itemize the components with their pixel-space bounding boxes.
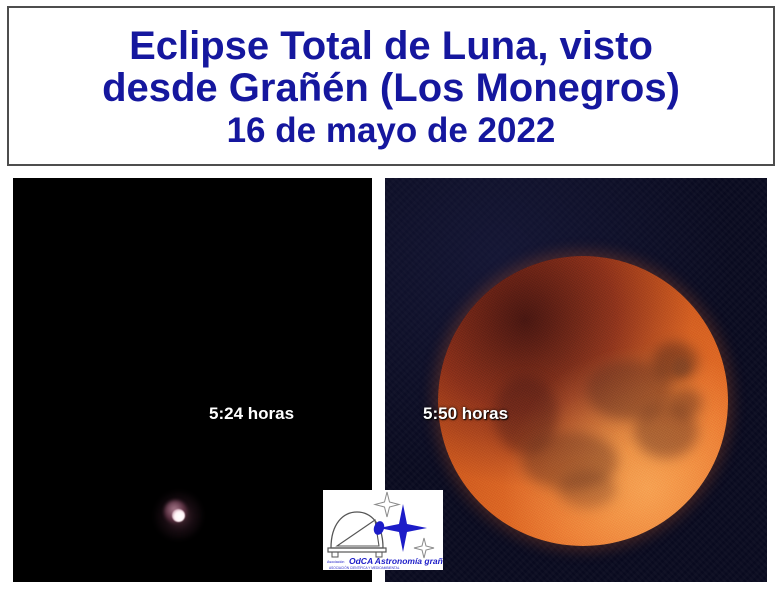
odca-observatory-logo: Asociación OdCA Astronomía grañén ASOCIA…: [323, 490, 443, 570]
page-title-line-1: Eclipse Total de Luna, visto: [129, 25, 653, 67]
page-title-line-2: desde Grañén (Los Monegros): [102, 67, 680, 109]
photo-partial-eclipse: 5:24 horas: [13, 178, 372, 582]
moon-bright-crescent: [172, 509, 185, 522]
odca-sub-text: ASOCIACIÓN CIENTÍFICA Y MEDIOAMBIENTAL: [329, 565, 400, 570]
page-title-line-3: 16 de mayo de 2022: [227, 112, 556, 149]
title-box: Eclipse Total de Luna, visto desde Grañé…: [7, 6, 775, 166]
blood-moon: [438, 256, 728, 546]
odca-main-text: OdCA Astronomía grañén: [349, 556, 443, 566]
moon-surface-texture: [438, 256, 728, 546]
timestamp-label-right: 5:50 horas: [423, 404, 508, 424]
timestamp-label-left: 5:24 horas: [209, 404, 294, 424]
odca-asociacion-text: Asociación: [327, 560, 344, 564]
slide-canvas: Eclipse Total de Luna, visto desde Grañé…: [0, 0, 782, 591]
